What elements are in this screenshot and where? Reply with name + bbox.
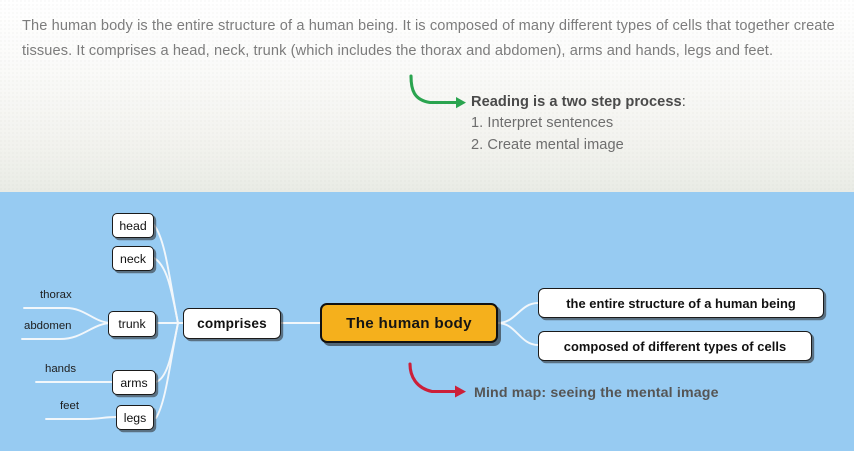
slide-root: The human body is the entire structure o… <box>0 0 854 451</box>
node-arms[interactable]: arms <box>112 370 156 395</box>
node-comprises[interactable]: comprises <box>183 308 281 339</box>
reading-callout: Reading is a two step process: 1. Interp… <box>471 92 801 156</box>
reading-title-colon: : <box>682 94 686 110</box>
node-definition-cells[interactable]: composed of different types of cells <box>538 331 812 361</box>
text-panel: The human body is the entire structure o… <box>0 0 854 192</box>
green-arrow-icon <box>400 74 478 116</box>
reading-title-text: Reading is a two step process <box>471 94 682 110</box>
reading-title: Reading is a two step process: <box>471 92 801 113</box>
red-arrow-icon <box>400 362 478 404</box>
red-arrow <box>400 362 478 404</box>
reading-step-1: 1. Interpret sentences <box>471 113 801 135</box>
reading-step-2: 2. Create mental image <box>471 135 801 157</box>
sub-node-feet[interactable]: feet <box>60 400 79 412</box>
node-trunk[interactable]: trunk <box>108 311 156 337</box>
body-paragraph: The human body is the entire structure o… <box>22 14 840 64</box>
sub-node-hands[interactable]: hands <box>45 363 76 375</box>
mind-map-caption: Mind map: seeing the mental image <box>474 385 719 401</box>
mind-map-panel: thorax abdomen hands feet head neck trun… <box>0 192 854 451</box>
sub-node-abdomen[interactable]: abdomen <box>24 320 72 332</box>
green-arrow <box>400 74 478 116</box>
node-head[interactable]: head <box>112 213 154 238</box>
sub-node-thorax[interactable]: thorax <box>40 289 72 301</box>
node-the-human-body[interactable]: The human body <box>320 303 498 343</box>
node-neck[interactable]: neck <box>112 246 154 271</box>
node-legs[interactable]: legs <box>116 405 154 430</box>
node-definition-structure[interactable]: the entire structure of a human being <box>538 288 824 318</box>
